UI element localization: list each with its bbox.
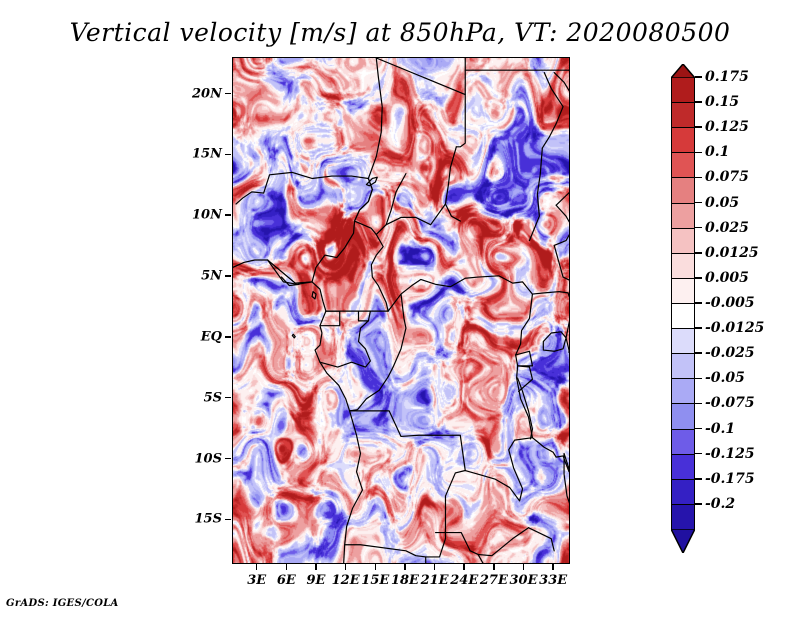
colorbar-segment [671, 152, 695, 179]
border-polyline [465, 438, 532, 501]
border-polyline [376, 58, 465, 95]
colorbar-tick [695, 352, 702, 354]
border-polyline [350, 411, 466, 471]
border-polyline [445, 147, 460, 221]
border-polyline [554, 73, 569, 92]
colorbar-label: 0.0125 [705, 245, 759, 261]
x-axis-tick [434, 564, 436, 570]
border-polyline [516, 351, 533, 366]
colorbar-tick [695, 177, 702, 179]
colorbar-label: 0.005 [705, 270, 749, 286]
x-axis-tick [463, 564, 465, 570]
colorbar-label: 0.1 [705, 144, 729, 160]
y-axis-tick [225, 214, 231, 216]
x-axis-label: 30E [510, 573, 538, 588]
colorbar-tick [695, 478, 702, 480]
border-polyline [236, 192, 264, 204]
colorbar-segment [671, 102, 695, 129]
border-polyline [268, 178, 373, 283]
colorbar-label: 0.075 [705, 169, 749, 185]
y-axis-tick [225, 275, 231, 277]
colorbar-segment [671, 127, 695, 154]
colorbar-label: -0.1 [705, 421, 735, 437]
x-axis-label: 33E [539, 573, 567, 588]
y-axis-label: 15S [170, 512, 222, 527]
border-polyline [292, 334, 295, 338]
colorbar-tick [695, 453, 702, 455]
colorbar-min-arrow [671, 529, 695, 553]
y-axis-tick [225, 336, 231, 338]
x-axis-label: 12E [332, 573, 360, 588]
x-axis-tick [552, 564, 554, 570]
y-axis-tick [225, 458, 231, 460]
colorbar-label: 0.05 [705, 195, 739, 211]
y-axis-tick [225, 93, 231, 95]
colorbar-segment [671, 504, 695, 531]
y-axis-tick [225, 154, 231, 156]
border-polyline [456, 95, 465, 147]
x-axis-tick [256, 564, 258, 570]
x-axis-tick [404, 564, 406, 570]
x-axis-label: 3E [247, 573, 266, 588]
border-polyline [376, 204, 445, 234]
colorbar-label: 0.125 [705, 119, 749, 135]
colorbar-label: -0.075 [705, 395, 755, 411]
grads-plot-page: Vertical velocity [m/s] at 850hPa, VT: 2… [0, 0, 800, 618]
colorbar-tick [695, 378, 702, 380]
colorbar-label: -0.175 [705, 471, 755, 487]
border-polyline [543, 332, 566, 351]
border-polyline [359, 311, 369, 321]
border-polyline [312, 292, 316, 299]
y-axis-label: EQ [170, 329, 222, 344]
colorbar-segment [671, 177, 695, 204]
colorbar-tick [695, 503, 702, 505]
colorbar-segment [671, 228, 695, 255]
border-polyline [518, 366, 533, 392]
colorbar-tick [695, 428, 702, 430]
colorbar-tick [695, 101, 702, 103]
y-axis-tick [225, 519, 231, 521]
colorbar-segment [671, 303, 695, 330]
colorbar-tick [695, 227, 702, 229]
colorbar-segment [671, 203, 695, 230]
colorbar-tick [695, 403, 702, 405]
colorbar-label: -0.125 [705, 446, 755, 462]
colorbar-segment [671, 77, 695, 104]
colorbar-tick [695, 277, 702, 279]
border-polyline [233, 260, 268, 267]
colorbar-label: 0.15 [705, 94, 739, 110]
colorbar-segment [671, 429, 695, 456]
x-axis-label: 21E [421, 573, 449, 588]
colorbar-label: -0.0125 [705, 320, 764, 336]
border-polyline [478, 554, 515, 563]
border-polyline [388, 276, 532, 311]
x-axis-tick [523, 564, 525, 570]
colorbar-label: -0.2 [705, 496, 735, 512]
y-axis-label: 20N [170, 86, 222, 101]
x-axis-label: 9E [307, 573, 326, 588]
border-polyline [556, 143, 569, 205]
x-axis-tick [345, 564, 347, 570]
colorbar-segment [671, 328, 695, 355]
colorbar-tick [695, 126, 702, 128]
country-borders-overlay [233, 58, 569, 563]
map-plot-area [232, 57, 570, 564]
colorbar-segment [671, 253, 695, 280]
border-polyline [528, 528, 554, 551]
border-polyline [532, 292, 569, 338]
x-axis-tick [315, 564, 317, 570]
border-polyline [564, 453, 569, 513]
y-axis-label: 15N [170, 147, 222, 162]
border-polyline [320, 311, 388, 367]
border-polyline [542, 73, 563, 148]
colorbar-label: 0.175 [705, 69, 749, 85]
colorbar-segment [671, 479, 695, 506]
x-axis-label: 18E [391, 573, 419, 588]
x-axis-tick [375, 564, 377, 570]
border-polyline [529, 148, 542, 240]
colorbar-label: -0.025 [705, 345, 755, 361]
colorbar: 0.1750.150.1250.10.0750.050.0250.01250.0… [671, 63, 791, 553]
border-polyline [345, 471, 466, 557]
colorbar-tick [695, 202, 702, 204]
border-polyline [566, 338, 569, 353]
border-polyline [268, 260, 363, 563]
y-axis-label: 10S [170, 451, 222, 466]
colorbar-segment [671, 378, 695, 405]
y-axis-tick [225, 397, 231, 399]
colorbar-tick [695, 152, 702, 154]
colorbar-tick [695, 327, 702, 329]
colorbar-tick [695, 302, 702, 304]
border-polyline [478, 528, 528, 556]
colorbar-label: -0.005 [705, 295, 755, 311]
y-axis-label: 5N [170, 269, 222, 284]
y-axis-label: 5S [170, 390, 222, 405]
y-axis-label: 10N [170, 208, 222, 223]
colorbar-label: -0.05 [705, 370, 745, 386]
x-axis-tick [286, 564, 288, 570]
colorbar-segment [671, 278, 695, 305]
x-axis-label: 24E [450, 573, 478, 588]
border-polyline [355, 178, 389, 311]
colorbar-segment [671, 454, 695, 481]
grads-footer: GrADS: IGES/COLA [6, 598, 119, 609]
x-axis-label: 15E [361, 573, 389, 588]
colorbar-segment [671, 403, 695, 430]
x-axis-label: 27E [480, 573, 508, 588]
colorbar-tick [695, 76, 702, 78]
x-axis-tick [493, 564, 495, 570]
border-polyline [368, 58, 382, 178]
page-title: Vertical velocity [m/s] at 850hPa, VT: 2… [0, 18, 800, 47]
colorbar-max-arrow [671, 63, 695, 77]
colorbar-label: 0.025 [705, 220, 749, 236]
border-polyline [264, 172, 369, 193]
x-axis-label: 6E [277, 573, 296, 588]
colorbar-segment [671, 353, 695, 380]
colorbar-tick [695, 252, 702, 254]
